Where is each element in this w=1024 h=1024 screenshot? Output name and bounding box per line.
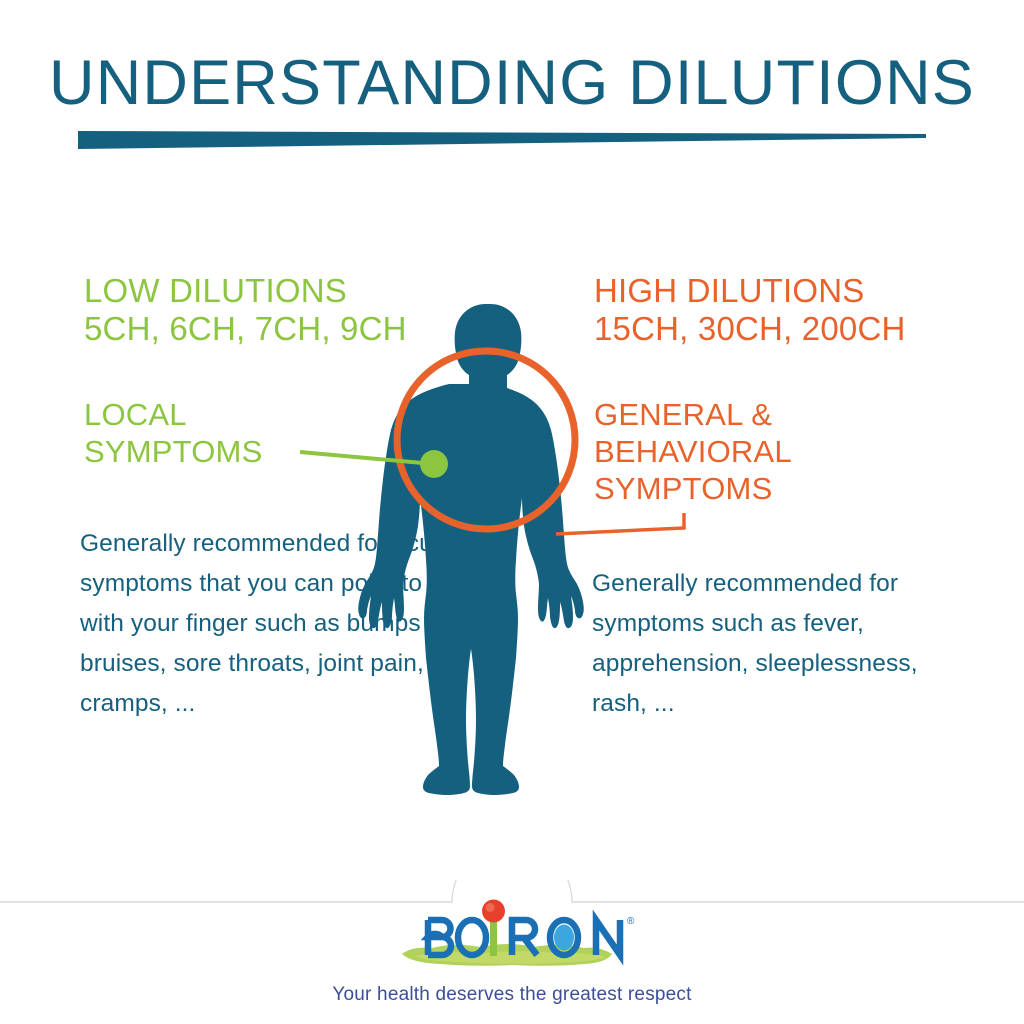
brand-tagline: Your health deserves the greatest respec… <box>0 984 1024 1006</box>
low-dilutions-heading-line1: LOW DILUTIONS <box>84 272 347 309</box>
logo-flower-stem-icon <box>490 918 497 956</box>
general-symptoms-label-line3: SYMPTOMS <box>594 470 792 507</box>
orange-circle-highlight-icon <box>397 351 575 529</box>
low-dilutions-heading-line2: 5CH, 6CH, 7CH, 9CH <box>84 310 407 348</box>
general-behavioral-symptoms-label: GENERAL & BEHAVIORAL SYMPTOMS <box>594 396 792 507</box>
high-dilutions-heading: HIGH DILUTIONS 15CH, 30CH, 200CH <box>594 272 906 348</box>
boiron-logo-graphic: ® <box>384 894 640 974</box>
local-symptoms-label-line1: LOCAL <box>84 396 262 433</box>
general-symptoms-label-line2: BEHAVIORAL <box>594 433 792 470</box>
title-divider-wedge <box>78 128 926 152</box>
logo-registered-mark: ® <box>627 916 635 927</box>
high-dilutions-heading-line1: HIGH DILUTIONS <box>594 272 865 309</box>
dilution-diagram <box>0 0 1024 1024</box>
green-leader-line-icon <box>300 452 434 464</box>
general-symptoms-description: Generally recommended for symptoms such … <box>592 564 964 724</box>
logo-poppy-flower-icon <box>482 900 505 923</box>
local-symptoms-description: Generally recommended for acute symptoms… <box>80 524 460 724</box>
orange-leader-line-icon <box>556 513 684 534</box>
infographic-page: UNDERSTANDING DILUTIONS LOW DILUTIONS 5C… <box>0 0 1024 1024</box>
boiron-logo: ® <box>384 894 640 974</box>
page-title: UNDERSTANDING DILUTIONS <box>0 52 1024 115</box>
low-dilutions-heading: LOW DILUTIONS 5CH, 6CH, 7CH, 9CH <box>84 272 407 348</box>
high-dilutions-heading-line2: 15CH, 30CH, 200CH <box>594 310 906 348</box>
green-dot-marker-icon <box>420 450 448 478</box>
local-symptoms-label-line2: SYMPTOMS <box>84 433 262 470</box>
logo-poppy-highlight-icon <box>486 903 495 912</box>
local-symptoms-label: LOCAL SYMPTOMS <box>84 396 262 470</box>
logo-inner-disc-icon <box>554 925 574 951</box>
general-symptoms-label-line1: GENERAL & <box>594 396 792 433</box>
